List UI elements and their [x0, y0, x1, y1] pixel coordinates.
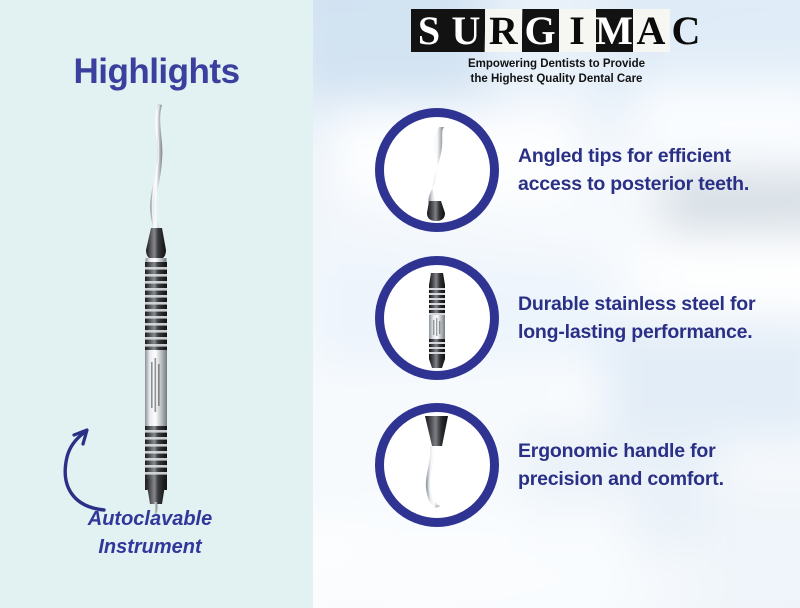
feature-text-3: Ergonomic handle for precision and comfo…: [518, 437, 768, 493]
autoclavable-callout: Autoclavable Instrument: [0, 505, 300, 561]
instrument-graphic: [126, 100, 186, 520]
feature-text-1: Angled tips for efficient access to post…: [518, 142, 768, 198]
dental-scaler-instrument: [126, 100, 186, 520]
feature-item-1: Angled tips for efficient access to post…: [375, 108, 800, 232]
brand-logo: S U R G I M A C Empowering Dentists to P…: [313, 8, 800, 87]
callout-line-1: Autoclavable: [0, 505, 300, 533]
logo-letter-2: U: [448, 9, 485, 52]
feature-item-2: Durable stainless steel for long-lasting…: [375, 256, 800, 380]
logo-letter-8: C: [670, 9, 703, 52]
infographic-canvas: Highlights: [0, 0, 800, 608]
logo-letter-3: R: [484, 9, 522, 52]
logo-letter-1: S: [411, 9, 448, 52]
feature-text-2: Durable stainless steel for long-lasting…: [518, 290, 768, 346]
instrument-angled-tip-icon: [375, 108, 499, 232]
tagline-line-2: the Highest Quality Dental Care: [468, 72, 645, 87]
callout-line-2: Instrument: [0, 533, 300, 561]
page-title: Highlights: [0, 52, 313, 92]
feature-item-3: Ergonomic handle for precision and comfo…: [375, 403, 800, 527]
brand-tagline: Empowering Dentists to Provide the Highe…: [468, 57, 645, 87]
instrument-full-handle-icon: [375, 256, 499, 380]
logo-letter-5: I: [559, 9, 596, 52]
right-panel: S U R G I M A C Empowering Dentists to P…: [313, 0, 800, 608]
logo-letter-7: A: [633, 9, 670, 52]
brand-logo-letters: S U R G I M A C: [411, 8, 703, 52]
logo-letter-4: G: [522, 9, 559, 52]
instrument-ergonomic-handle-icon: [375, 403, 499, 527]
left-panel: Highlights: [0, 0, 313, 608]
logo-letter-6: M: [596, 9, 633, 52]
tagline-line-1: Empowering Dentists to Provide: [468, 57, 645, 72]
